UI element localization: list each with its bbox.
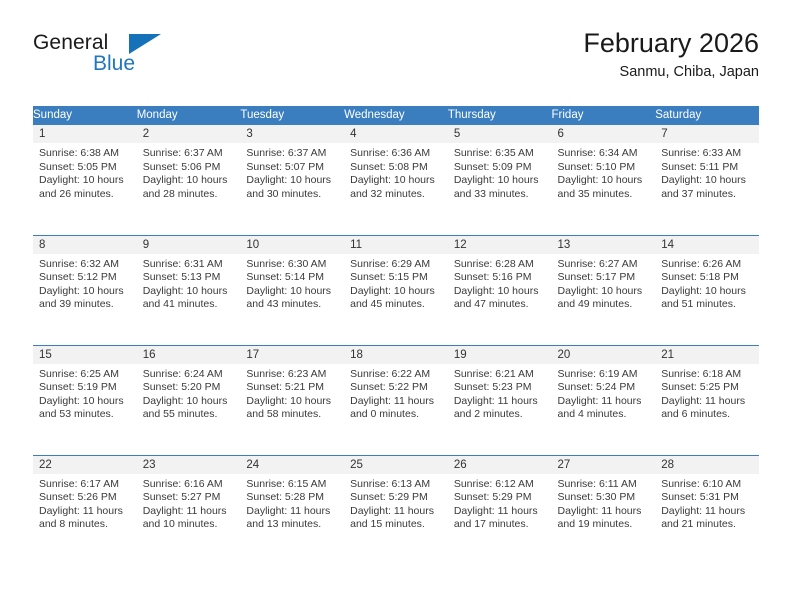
day-number: 3 [240,125,344,143]
day-cell[interactable]: 4 Sunrise: 6:36 AM Sunset: 5:08 PM Dayli… [344,125,448,235]
sunrise-text: Sunrise: 6:12 AM [454,478,546,492]
day-number: 4 [344,125,448,143]
day-details: Sunrise: 6:28 AM Sunset: 5:16 PM Dayligh… [448,254,552,312]
sunrise-text: Sunrise: 6:15 AM [246,478,338,492]
daylight-text-line2: and 41 minutes. [143,298,235,312]
sunrise-text: Sunrise: 6:37 AM [143,147,235,161]
day-number: 2 [137,125,241,143]
sunrise-text: Sunrise: 6:38 AM [39,147,131,161]
day-cell[interactable]: 2 Sunrise: 6:37 AM Sunset: 5:06 PM Dayli… [137,125,241,235]
sunrise-text: Sunrise: 6:18 AM [661,368,753,382]
day-cell[interactable]: 15 Sunrise: 6:25 AM Sunset: 5:19 PM Dayl… [33,345,137,455]
calendar-body: 1 Sunrise: 6:38 AM Sunset: 5:05 PM Dayli… [33,125,759,565]
day-number: 21 [655,346,759,364]
calendar-week-row: 15 Sunrise: 6:25 AM Sunset: 5:19 PM Dayl… [33,345,759,455]
sunset-text: Sunset: 5:24 PM [558,381,650,395]
day-details: Sunrise: 6:10 AM Sunset: 5:31 PM Dayligh… [655,474,759,532]
daylight-text-line1: Daylight: 11 hours [246,505,338,519]
day-number: 16 [137,346,241,364]
day-cell[interactable]: 10 Sunrise: 6:30 AM Sunset: 5:14 PM Dayl… [240,235,344,345]
sunset-text: Sunset: 5:10 PM [558,161,650,175]
daylight-text-line2: and 19 minutes. [558,518,650,532]
sunrise-text: Sunrise: 6:36 AM [350,147,442,161]
day-cell[interactable]: 1 Sunrise: 6:38 AM Sunset: 5:05 PM Dayli… [33,125,137,235]
day-details: Sunrise: 6:16 AM Sunset: 5:27 PM Dayligh… [137,474,241,532]
day-details: Sunrise: 6:22 AM Sunset: 5:22 PM Dayligh… [344,364,448,422]
sunset-text: Sunset: 5:27 PM [143,491,235,505]
sunrise-text: Sunrise: 6:25 AM [39,368,131,382]
sunrise-text: Sunrise: 6:34 AM [558,147,650,161]
day-cell[interactable]: 11 Sunrise: 6:29 AM Sunset: 5:15 PM Dayl… [344,235,448,345]
daylight-text-line1: Daylight: 11 hours [558,395,650,409]
sunrise-text: Sunrise: 6:17 AM [39,478,131,492]
day-number: 1 [33,125,137,143]
day-cell[interactable]: 9 Sunrise: 6:31 AM Sunset: 5:13 PM Dayli… [137,235,241,345]
sunrise-text: Sunrise: 6:22 AM [350,368,442,382]
day-details: Sunrise: 6:26 AM Sunset: 5:18 PM Dayligh… [655,254,759,312]
daylight-text-line1: Daylight: 10 hours [143,285,235,299]
day-number: 15 [33,346,137,364]
daylight-text-line1: Daylight: 10 hours [454,285,546,299]
sunrise-text: Sunrise: 6:26 AM [661,258,753,272]
sunset-text: Sunset: 5:08 PM [350,161,442,175]
daylight-text-line2: and 53 minutes. [39,408,131,422]
day-number: 24 [240,456,344,474]
daylight-text-line2: and 4 minutes. [558,408,650,422]
day-number: 7 [655,125,759,143]
daylight-text-line1: Daylight: 11 hours [350,395,442,409]
daylight-text-line2: and 10 minutes. [143,518,235,532]
weekday-header-wednesday: Wednesday [344,106,448,125]
sunrise-text: Sunrise: 6:27 AM [558,258,650,272]
sunrise-text: Sunrise: 6:28 AM [454,258,546,272]
day-cell[interactable]: 21 Sunrise: 6:18 AM Sunset: 5:25 PM Dayl… [655,345,759,455]
day-details: Sunrise: 6:24 AM Sunset: 5:20 PM Dayligh… [137,364,241,422]
day-number: 26 [448,456,552,474]
daylight-text-line2: and 49 minutes. [558,298,650,312]
sunset-text: Sunset: 5:16 PM [454,271,546,285]
day-details: Sunrise: 6:36 AM Sunset: 5:08 PM Dayligh… [344,143,448,201]
sunset-text: Sunset: 5:06 PM [143,161,235,175]
weekday-header-friday: Friday [552,106,656,125]
day-details: Sunrise: 6:13 AM Sunset: 5:29 PM Dayligh… [344,474,448,532]
sunset-text: Sunset: 5:17 PM [558,271,650,285]
general-blue-logo[interactable]: General Blue [33,32,193,84]
weekday-header-tuesday: Tuesday [240,106,344,125]
daylight-text-line2: and 13 minutes. [246,518,338,532]
daylight-text-line1: Daylight: 11 hours [39,505,131,519]
daylight-text-line2: and 6 minutes. [661,408,753,422]
day-cell[interactable]: 27 Sunrise: 6:11 AM Sunset: 5:30 PM Dayl… [552,455,656,565]
daylight-text-line2: and 15 minutes. [350,518,442,532]
sunset-text: Sunset: 5:26 PM [39,491,131,505]
title-block: February 2026 Sanmu, Chiba, Japan [583,28,759,81]
daylight-text-line1: Daylight: 10 hours [454,174,546,188]
daylight-text-line1: Daylight: 10 hours [350,174,442,188]
day-details: Sunrise: 6:19 AM Sunset: 5:24 PM Dayligh… [552,364,656,422]
day-number: 17 [240,346,344,364]
day-number: 20 [552,346,656,364]
daylight-text-line1: Daylight: 11 hours [661,395,753,409]
day-number: 9 [137,236,241,254]
day-number: 12 [448,236,552,254]
sunrise-text: Sunrise: 6:35 AM [454,147,546,161]
sunrise-text: Sunrise: 6:16 AM [143,478,235,492]
day-cell[interactable]: 8 Sunrise: 6:32 AM Sunset: 5:12 PM Dayli… [33,235,137,345]
logo-triangle-icon [129,34,161,54]
daylight-text-line2: and 35 minutes. [558,188,650,202]
sunrise-text: Sunrise: 6:32 AM [39,258,131,272]
day-details: Sunrise: 6:34 AM Sunset: 5:10 PM Dayligh… [552,143,656,201]
daylight-text-line1: Daylight: 10 hours [39,395,131,409]
sunrise-text: Sunrise: 6:33 AM [661,147,753,161]
daylight-text-line2: and 45 minutes. [350,298,442,312]
sunrise-text: Sunrise: 6:29 AM [350,258,442,272]
day-details: Sunrise: 6:38 AM Sunset: 5:05 PM Dayligh… [33,143,137,201]
sunrise-text: Sunrise: 6:11 AM [558,478,650,492]
day-cell[interactable]: 22 Sunrise: 6:17 AM Sunset: 5:26 PM Dayl… [33,455,137,565]
location-subtitle: Sanmu, Chiba, Japan [583,64,759,81]
day-cell[interactable]: 19 Sunrise: 6:21 AM Sunset: 5:23 PM Dayl… [448,345,552,455]
daylight-text-line2: and 30 minutes. [246,188,338,202]
weekday-header-sunday: Sunday [33,106,137,125]
daylight-text-line1: Daylight: 10 hours [661,285,753,299]
day-details: Sunrise: 6:31 AM Sunset: 5:13 PM Dayligh… [137,254,241,312]
daylight-text-line1: Daylight: 11 hours [454,505,546,519]
daylight-text-line2: and 58 minutes. [246,408,338,422]
day-cell[interactable]: 28 Sunrise: 6:10 AM Sunset: 5:31 PM Dayl… [655,455,759,565]
day-cell[interactable]: 17 Sunrise: 6:23 AM Sunset: 5:21 PM Dayl… [240,345,344,455]
calendar-week-row: 22 Sunrise: 6:17 AM Sunset: 5:26 PM Dayl… [33,455,759,565]
daylight-text-line1: Daylight: 10 hours [246,174,338,188]
sunrise-text: Sunrise: 6:24 AM [143,368,235,382]
daylight-text-line2: and 17 minutes. [454,518,546,532]
sunset-text: Sunset: 5:21 PM [246,381,338,395]
sunrise-text: Sunrise: 6:23 AM [246,368,338,382]
daylight-text-line1: Daylight: 11 hours [143,505,235,519]
daylight-text-line1: Daylight: 10 hours [350,285,442,299]
day-cell[interactable]: 23 Sunrise: 6:16 AM Sunset: 5:27 PM Dayl… [137,455,241,565]
weekday-header-saturday: Saturday [655,106,759,125]
sunrise-text: Sunrise: 6:19 AM [558,368,650,382]
day-details: Sunrise: 6:37 AM Sunset: 5:06 PM Dayligh… [137,143,241,201]
calendar-page: General Blue February 2026 Sanmu, Chiba,… [0,0,792,612]
day-number: 23 [137,456,241,474]
daylight-text-line2: and 21 minutes. [661,518,753,532]
daylight-text-line1: Daylight: 11 hours [558,505,650,519]
daylight-text-line2: and 55 minutes. [143,408,235,422]
daylight-text-line2: and 51 minutes. [661,298,753,312]
day-number: 19 [448,346,552,364]
daylight-text-line1: Daylight: 10 hours [246,285,338,299]
day-cell[interactable]: 7 Sunrise: 6:33 AM Sunset: 5:11 PM Dayli… [655,125,759,235]
sunset-text: Sunset: 5:25 PM [661,381,753,395]
day-number: 22 [33,456,137,474]
sunrise-text: Sunrise: 6:10 AM [661,478,753,492]
daylight-text-line1: Daylight: 10 hours [246,395,338,409]
calendar-week-row: 1 Sunrise: 6:38 AM Sunset: 5:05 PM Dayli… [33,125,759,235]
sunset-text: Sunset: 5:29 PM [454,491,546,505]
sunrise-text: Sunrise: 6:13 AM [350,478,442,492]
day-details: Sunrise: 6:32 AM Sunset: 5:12 PM Dayligh… [33,254,137,312]
day-cell[interactable]: 3 Sunrise: 6:37 AM Sunset: 5:07 PM Dayli… [240,125,344,235]
day-number: 18 [344,346,448,364]
logo-text-general: General [33,32,108,53]
daylight-text-line2: and 43 minutes. [246,298,338,312]
day-cell[interactable]: 13 Sunrise: 6:27 AM Sunset: 5:17 PM Dayl… [552,235,656,345]
day-cell[interactable]: 25 Sunrise: 6:13 AM Sunset: 5:29 PM Dayl… [344,455,448,565]
day-details: Sunrise: 6:12 AM Sunset: 5:29 PM Dayligh… [448,474,552,532]
calendar-week-row: 8 Sunrise: 6:32 AM Sunset: 5:12 PM Dayli… [33,235,759,345]
day-details: Sunrise: 6:11 AM Sunset: 5:30 PM Dayligh… [552,474,656,532]
sunset-text: Sunset: 5:07 PM [246,161,338,175]
day-details: Sunrise: 6:35 AM Sunset: 5:09 PM Dayligh… [448,143,552,201]
sunrise-text: Sunrise: 6:21 AM [454,368,546,382]
daylight-text-line1: Daylight: 10 hours [39,174,131,188]
sunset-text: Sunset: 5:20 PM [143,381,235,395]
weekday-header-monday: Monday [137,106,241,125]
day-cell[interactable]: 20 Sunrise: 6:19 AM Sunset: 5:24 PM Dayl… [552,345,656,455]
logo-text-blue: Blue [93,53,135,74]
daylight-text-line2: and 32 minutes. [350,188,442,202]
day-number: 27 [552,456,656,474]
daylight-text-line1: Daylight: 10 hours [558,174,650,188]
day-number: 8 [33,236,137,254]
day-cell[interactable]: 14 Sunrise: 6:26 AM Sunset: 5:18 PM Dayl… [655,235,759,345]
day-details: Sunrise: 6:30 AM Sunset: 5:14 PM Dayligh… [240,254,344,312]
sunrise-sunset-calendar: Sunday Monday Tuesday Wednesday Thursday… [33,106,759,565]
day-details: Sunrise: 6:29 AM Sunset: 5:15 PM Dayligh… [344,254,448,312]
day-cell[interactable]: 16 Sunrise: 6:24 AM Sunset: 5:20 PM Dayl… [137,345,241,455]
daylight-text-line2: and 8 minutes. [39,518,131,532]
day-number: 28 [655,456,759,474]
calendar-header-row: Sunday Monday Tuesday Wednesday Thursday… [33,106,759,125]
sunset-text: Sunset: 5:19 PM [39,381,131,395]
day-details: Sunrise: 6:25 AM Sunset: 5:19 PM Dayligh… [33,364,137,422]
sunset-text: Sunset: 5:11 PM [661,161,753,175]
day-number: 10 [240,236,344,254]
day-details: Sunrise: 6:33 AM Sunset: 5:11 PM Dayligh… [655,143,759,201]
daylight-text-line2: and 47 minutes. [454,298,546,312]
sunset-text: Sunset: 5:18 PM [661,271,753,285]
day-details: Sunrise: 6:23 AM Sunset: 5:21 PM Dayligh… [240,364,344,422]
daylight-text-line1: Daylight: 10 hours [143,395,235,409]
daylight-text-line1: Daylight: 11 hours [350,505,442,519]
day-number: 25 [344,456,448,474]
sunrise-text: Sunrise: 6:31 AM [143,258,235,272]
sunset-text: Sunset: 5:30 PM [558,491,650,505]
daylight-text-line2: and 28 minutes. [143,188,235,202]
daylight-text-line1: Daylight: 10 hours [143,174,235,188]
day-cell[interactable]: 26 Sunrise: 6:12 AM Sunset: 5:29 PM Dayl… [448,455,552,565]
day-cell[interactable]: 12 Sunrise: 6:28 AM Sunset: 5:16 PM Dayl… [448,235,552,345]
day-details: Sunrise: 6:27 AM Sunset: 5:17 PM Dayligh… [552,254,656,312]
page-header: General Blue February 2026 Sanmu, Chiba,… [33,28,759,98]
daylight-text-line2: and 26 minutes. [39,188,131,202]
day-details: Sunrise: 6:17 AM Sunset: 5:26 PM Dayligh… [33,474,137,532]
sunset-text: Sunset: 5:28 PM [246,491,338,505]
day-number: 6 [552,125,656,143]
sunset-text: Sunset: 5:05 PM [39,161,131,175]
day-cell[interactable]: 24 Sunrise: 6:15 AM Sunset: 5:28 PM Dayl… [240,455,344,565]
day-details: Sunrise: 6:18 AM Sunset: 5:25 PM Dayligh… [655,364,759,422]
page-title: February 2026 [583,28,759,60]
sunset-text: Sunset: 5:13 PM [143,271,235,285]
day-number: 5 [448,125,552,143]
sunset-text: Sunset: 5:29 PM [350,491,442,505]
day-cell[interactable]: 18 Sunrise: 6:22 AM Sunset: 5:22 PM Dayl… [344,345,448,455]
day-number: 11 [344,236,448,254]
sunset-text: Sunset: 5:23 PM [454,381,546,395]
day-number: 13 [552,236,656,254]
daylight-text-line1: Daylight: 10 hours [39,285,131,299]
day-details: Sunrise: 6:15 AM Sunset: 5:28 PM Dayligh… [240,474,344,532]
daylight-text-line2: and 39 minutes. [39,298,131,312]
daylight-text-line1: Daylight: 10 hours [661,174,753,188]
sunset-text: Sunset: 5:31 PM [661,491,753,505]
sunset-text: Sunset: 5:22 PM [350,381,442,395]
sunset-text: Sunset: 5:15 PM [350,271,442,285]
sunset-text: Sunset: 5:12 PM [39,271,131,285]
daylight-text-line1: Daylight: 10 hours [558,285,650,299]
daylight-text-line2: and 0 minutes. [350,408,442,422]
daylight-text-line2: and 2 minutes. [454,408,546,422]
sunset-text: Sunset: 5:14 PM [246,271,338,285]
day-number: 14 [655,236,759,254]
daylight-text-line2: and 33 minutes. [454,188,546,202]
day-details: Sunrise: 6:21 AM Sunset: 5:23 PM Dayligh… [448,364,552,422]
sunset-text: Sunset: 5:09 PM [454,161,546,175]
daylight-text-line1: Daylight: 11 hours [454,395,546,409]
daylight-text-line1: Daylight: 11 hours [661,505,753,519]
day-cell[interactable]: 6 Sunrise: 6:34 AM Sunset: 5:10 PM Dayli… [552,125,656,235]
sunrise-text: Sunrise: 6:30 AM [246,258,338,272]
day-details: Sunrise: 6:37 AM Sunset: 5:07 PM Dayligh… [240,143,344,201]
day-cell[interactable]: 5 Sunrise: 6:35 AM Sunset: 5:09 PM Dayli… [448,125,552,235]
sunrise-text: Sunrise: 6:37 AM [246,147,338,161]
weekday-header-thursday: Thursday [448,106,552,125]
daylight-text-line2: and 37 minutes. [661,188,753,202]
